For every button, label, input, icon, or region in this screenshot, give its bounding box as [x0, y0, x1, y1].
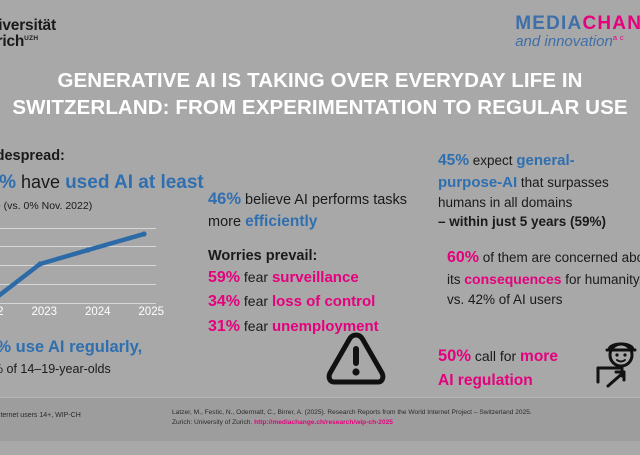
- concerns-keyword: consequences: [464, 271, 561, 287]
- efficiency-percentage: 46%: [208, 190, 241, 208]
- efficiency-keyword: efficiently: [245, 213, 317, 230]
- regular-use-statement: 34% use AI regularly,: [0, 338, 142, 357]
- regulation-keyword-2: AI regulation: [438, 372, 533, 389]
- page-title-line1: GENERATIVE AI IS TAKING OVER EVERYDAY LI…: [0, 68, 640, 95]
- footer-bar: Basis: internet users 14+, WIP-CH Latzer…: [0, 397, 640, 441]
- widespread-percentage: 83%: [0, 172, 16, 193]
- mediachange-logo-row1: MEDIACHANGE: [515, 14, 640, 33]
- citation-line1: Latzer, M., Festic, N., Odermatt, C., Bi…: [172, 408, 532, 418]
- chart-x-axis-labels: 2022 2023 2024 2025: [0, 306, 164, 318]
- worries-list: 59% fear surveillance 34% fear loss of c…: [208, 266, 379, 339]
- concerns-text-4: vs. 42% of AI users: [447, 292, 563, 307]
- ai-usage-line-chart: [0, 228, 156, 304]
- footnote-basis: Basis: internet users 14+, WIP-CH: [0, 412, 81, 419]
- chart-tick-2022: 2022: [0, 306, 4, 318]
- warning-triangle-icon: [325, 330, 387, 393]
- uzh-logo-line1: Universität: [0, 18, 56, 34]
- uzh-logo-sup: UZH: [24, 35, 38, 42]
- worry-verb: fear: [240, 293, 272, 309]
- mediachange-logo-row2: and innovationa c: [515, 34, 640, 49]
- citation-publisher: Zurich: University of Zurich.: [172, 419, 254, 426]
- mediachange-logo: MEDIACHANGE and innovationa c: [515, 14, 640, 49]
- worry-label: loss of control: [272, 293, 375, 310]
- gpai-text-2: that surpasses: [517, 175, 609, 190]
- worry-verb: fear: [240, 318, 272, 334]
- general-purpose-ai-statement: 45% expect general- purpose-AI that surp…: [438, 150, 640, 232]
- gpai-text-4: – within just 5 years (59%): [438, 214, 606, 229]
- regulation-keyword-1: more: [520, 348, 558, 365]
- citation-line2: Zurich: University of Zurich. http://med…: [172, 418, 532, 428]
- widespread-text-1: have: [16, 172, 65, 192]
- efficiency-text-2: more: [208, 214, 245, 230]
- citation-link[interactable]: http://mediachange.ch/research/wip-ch-20…: [254, 419, 393, 426]
- worries-heading: Worries prevail:: [208, 248, 317, 264]
- chart-tick-2023: 2023: [31, 306, 57, 318]
- chart-tick-2025: 2025: [138, 306, 164, 318]
- worry-percentage: 59%: [208, 269, 240, 286]
- mediachange-logo-sup: a c: [613, 33, 624, 42]
- regulation-percentage: 50%: [438, 347, 471, 365]
- concerns-percentage: 60%: [447, 249, 479, 266]
- worry-label: surveillance: [272, 269, 359, 286]
- slide-canvas: Universität ZürichUZH MEDIACHANGE and in…: [0, 0, 640, 441]
- regulation-text-1: call for: [471, 348, 520, 364]
- widespread-text-2: used AI at least: [65, 172, 204, 193]
- widespread-subtext: once (vs. 0% Nov. 2022): [0, 200, 92, 212]
- widespread-statement: 83% have used AI at least: [0, 172, 204, 194]
- gpai-keyword-2: purpose-AI: [438, 174, 517, 191]
- gpai-percentage: 45%: [438, 152, 469, 169]
- mediachange-logo-tagline: and innovation: [515, 33, 613, 50]
- gpai-text-1: expect: [469, 153, 516, 168]
- gpai-text-3: humans in all domains: [438, 195, 572, 210]
- regular-use-subtext: 71% of 14–19-year-olds: [0, 362, 111, 376]
- police-officer-icon: [590, 338, 640, 397]
- chart-series-line: [0, 228, 156, 308]
- regular-use-percentage: 34%: [0, 338, 11, 356]
- worry-percentage: 31%: [208, 318, 240, 335]
- widespread-heading: Widespread:: [0, 148, 65, 164]
- uzh-logo: Universität ZürichUZH: [0, 18, 56, 50]
- concerns-text-3: for humanity,: [562, 272, 640, 287]
- worry-item-loss-of-control: 34% fear loss of control: [208, 290, 379, 314]
- efficiency-text-1: believe AI performs tasks: [241, 192, 407, 208]
- gpai-keyword-1: general-: [516, 152, 574, 169]
- citation: Latzer, M., Festic, N., Odermatt, C., Bi…: [172, 408, 532, 428]
- page-title: GENERATIVE AI IS TAKING OVER EVERYDAY LI…: [0, 68, 640, 121]
- regular-use-text: use AI regularly,: [11, 338, 142, 356]
- concerns-text-1: of them are concerned about: [479, 250, 640, 265]
- page-title-line2: SWITZERLAND: FROM EXPERIMENTATION TO REG…: [0, 95, 640, 122]
- uzh-logo-line2: ZürichUZH: [0, 34, 56, 50]
- mediachange-logo-media: MEDIA: [515, 13, 582, 34]
- chart-tick-2024: 2024: [85, 306, 111, 318]
- concerns-text-2: its: [447, 272, 464, 287]
- efficiency-statement: 46% believe AI performs tasks more effic…: [208, 188, 418, 233]
- mediachange-logo-change: CHANGE: [582, 13, 640, 34]
- infographic-slide: Universität ZürichUZH MEDIACHANGE and in…: [0, 0, 640, 455]
- worry-item-surveillance: 59% fear surveillance: [208, 266, 379, 290]
- concerns-statement: 60% of them are concerned about its cons…: [447, 246, 640, 309]
- worry-verb: fear: [240, 269, 272, 285]
- worry-percentage: 34%: [208, 293, 240, 310]
